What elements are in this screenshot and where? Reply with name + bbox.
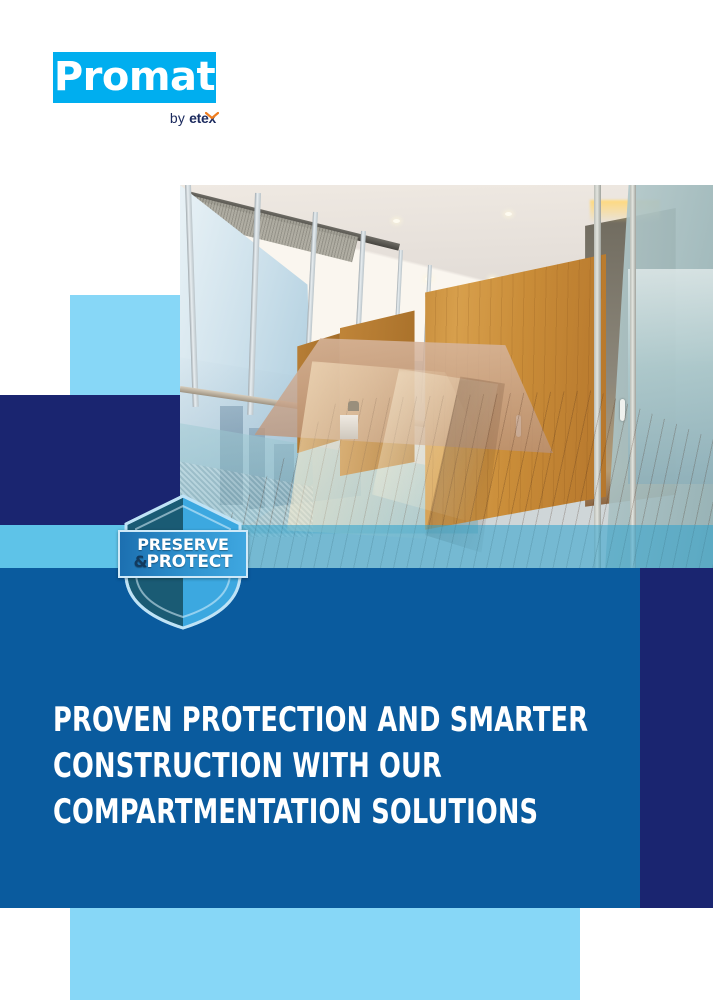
photo-cyan-overlay-band — [180, 525, 713, 568]
accent-rect-light-blue-bottom — [70, 908, 580, 1000]
building-corridor-photo — [180, 185, 713, 568]
headline-line-3: COMPARTMENTATION SOLUTIONS — [53, 789, 523, 835]
by-label: by — [170, 110, 185, 126]
brochure-cover-page: PRESERVE & PROTECT Promat by etex PROVEN… — [0, 0, 713, 1000]
badge-line-protect: & PROTECT — [134, 554, 233, 571]
badge-line-preserve: PRESERVE — [137, 537, 228, 553]
planter — [340, 415, 358, 439]
headline-line-2: CONSTRUCTION WITH OUR — [53, 743, 523, 789]
etex-endorsement: by etex — [53, 110, 216, 128]
promat-wordmark: Promat — [54, 57, 215, 97]
promat-logo-box: Promat — [53, 52, 216, 103]
photo-scene — [180, 185, 713, 568]
ceiling-spotlight — [505, 212, 512, 216]
badge-banner: PRESERVE & PROTECT — [118, 530, 248, 578]
headline-line-1: PROVEN PROTECTION AND SMARTER — [53, 697, 523, 743]
badge-protect-word: PROTECT — [147, 554, 233, 571]
accent-rect-navy-right — [640, 568, 713, 908]
etex-x-accent-icon — [205, 110, 219, 122]
badge-ampersand: & — [134, 554, 147, 570]
cover-headline: PROVEN PROTECTION AND SMARTER CONSTRUCTI… — [53, 697, 613, 835]
preserve-and-protect-badge: PRESERVE & PROTECT — [122, 494, 244, 630]
planter-foliage — [348, 401, 359, 411]
promat-logo: Promat by etex — [53, 52, 233, 128]
accent-square-light-blue-top — [70, 295, 180, 395]
